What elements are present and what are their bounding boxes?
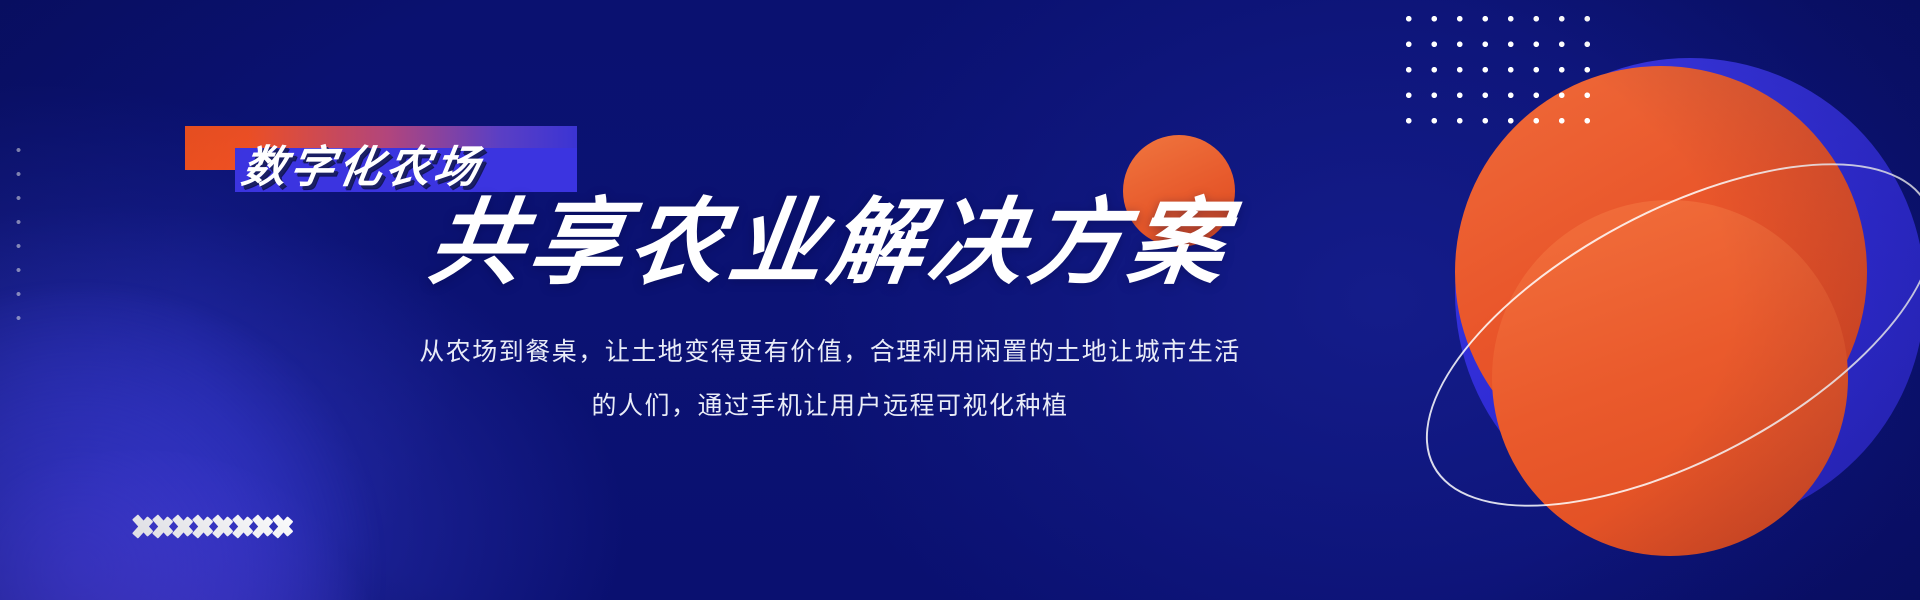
chevron-left-icon [153,503,174,550]
chevron-left-icon [273,503,294,550]
badge-label: 数字化农场 [238,134,587,192]
decor-left-dotted-line [16,138,21,330]
chevron-left-icon [173,503,194,550]
badge: 数字化农场 [185,126,577,192]
chevron-left-icon [133,503,154,550]
subtitle: 从农场到餐桌，让土地变得更有价值，合理利用闲置的土地让城市生活 的人们，通过手机… [330,325,1330,433]
chevron-left-icon [253,503,274,550]
decor-chevrons [133,503,293,550]
subtitle-line-2: 的人们，通过手机让用户远程可视化种植 [330,379,1330,433]
page-title: 共享农业解决方案 [423,196,1156,290]
subtitle-line-1: 从农场到餐桌，让土地变得更有价值，合理利用闲置的土地让城市生活 [330,325,1330,379]
chevron-left-icon [233,503,254,550]
chevron-left-icon [213,503,234,550]
chevron-left-icon [193,503,214,550]
banner-root: 数字化农场 共享农业解决方案 从农场到餐桌，让土地变得更有价值，合理利用闲置的土… [0,0,1920,600]
decor-dot-grid [1396,6,1600,134]
